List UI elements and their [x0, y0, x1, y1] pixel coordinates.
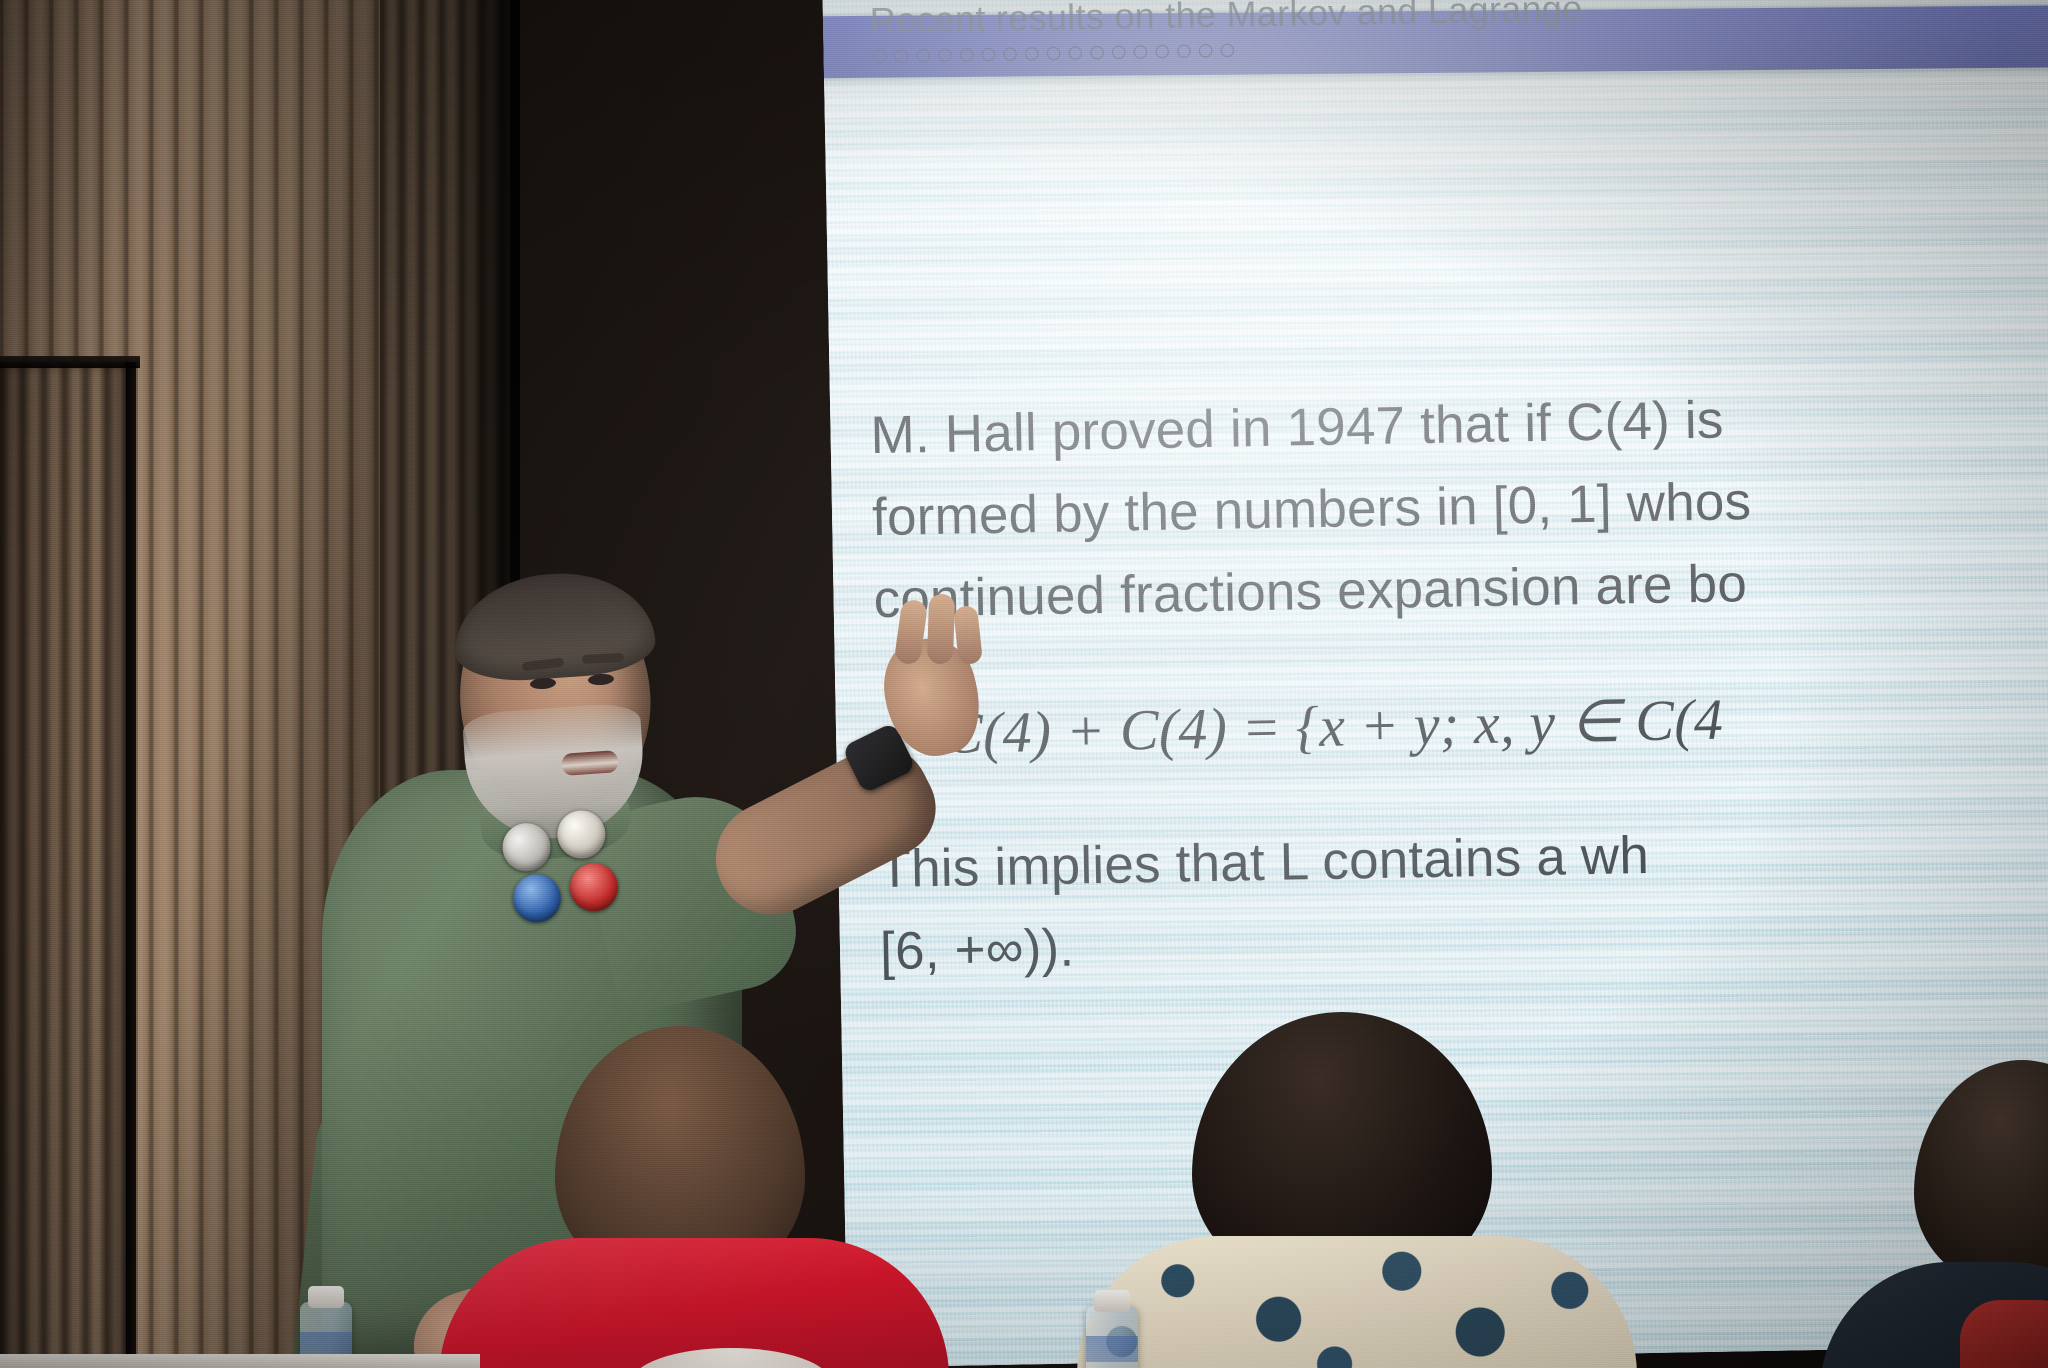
bottle-cap-icon [1094, 1290, 1130, 1312]
bottle-label [1086, 1336, 1138, 1362]
water-bottle [1086, 1306, 1138, 1368]
audience-torso [1960, 1300, 2048, 1368]
slide-equation: C(4) + C(4) = {x + y; x, y ∈ C(4 [835, 652, 2048, 796]
wooden-recess-top-shadow [0, 356, 140, 368]
audience-torso [439, 1238, 949, 1368]
presenter-finger [927, 594, 955, 665]
bottle-cap-icon [308, 1286, 344, 1308]
audience-head [1914, 1060, 2048, 1290]
table-edge [0, 1354, 480, 1368]
audience-member-patterned-blouse [1132, 1018, 1602, 1368]
presenter-mouth [561, 750, 618, 776]
slide-progress-dots: ○○○○○○○○○○○○○○○○○ [870, 32, 1240, 73]
slide-body-text: M. Hall proved in 1947 that if C(4) is f… [830, 372, 2048, 994]
shirt-pin-badges [500, 810, 642, 935]
pin-badge-icon [567, 861, 620, 914]
audience-torso [1077, 1236, 1637, 1368]
audience-member-red-sleeve [1960, 1300, 2048, 1368]
pin-badge-icon [500, 820, 553, 873]
wooden-recess-edge [126, 362, 138, 1368]
lecture-photo-scene: M. Hall proved in 1947 that if C(4) is f… [0, 0, 2048, 1368]
pin-badge-icon [510, 872, 563, 925]
audience-member-red-shirt [455, 1026, 925, 1368]
wooden-recess-panel [0, 362, 136, 1368]
